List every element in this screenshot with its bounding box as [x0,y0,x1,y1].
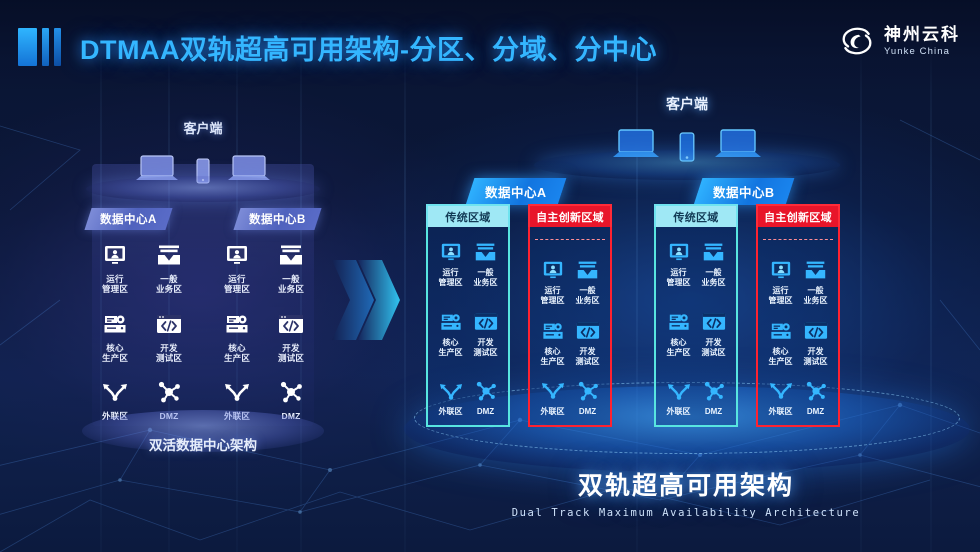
zone-row: 核心生产区 开发测试区 [535,318,605,367]
zone-item: 运行管理区 [433,239,468,288]
dmz-nodes-icon [805,378,827,404]
zone-line2: 业务区 [702,278,726,287]
network-branch-icon [224,377,250,407]
zone-line1: 开发 [282,343,299,353]
zone-line2: 生产区 [667,348,691,357]
left-datacenter-a-zones: 运行管理区 一般业务区 核心生产区 [88,240,196,422]
right-client-platform [534,150,840,180]
monitor-user-icon [770,257,792,283]
zone-item: DMZ [696,378,731,417]
zone-line1: 核心 [106,343,123,353]
panel-body: 运行管理区 一般业务区 核心生产区 [654,227,738,427]
zone-item: 运行管理区 [661,239,696,288]
zone-line2: 测试区 [804,357,828,366]
zone-line1: 运行 [671,268,687,277]
zone-line1: 开发 [580,347,596,356]
left-datacenter-a-chip: 数据中心A [84,208,172,230]
logo-name-en: Yunke China [884,47,960,57]
left-datacenter-b-zones: 运行管理区 一般业务区 核心生产区 [210,240,318,422]
zone-line1: 一般 [808,286,824,295]
zone-item: 开发测试区 [798,318,833,367]
inbox-tray-icon [702,239,725,265]
zone-line2: 生产区 [439,348,463,357]
panel-header: 传统区域 [654,204,738,227]
panel-body: 运行管理区 一般业务区 核心生产区 [756,227,840,427]
server-core-icon [542,318,564,344]
monitor-user-icon [542,257,564,283]
zone-row: 外联区 DMZ [661,378,731,417]
zone-item: 开发测试区 [570,318,605,367]
zone-line1: 一般 [160,274,177,284]
zone-line1: 外联区 [439,407,463,416]
left-datacenter-labels: 数据中心A 数据中心B [88,208,318,230]
right-title-block: 双轨超高可用架构 Dual Track Maximum Availability… [392,466,980,519]
zone-line1: 核心 [773,347,789,356]
zone-line2: 业务区 [804,296,828,305]
left-datacenter-b-label: 数据中心B [249,211,306,227]
code-window-icon [156,309,182,339]
zone-item: DMZ [798,378,833,417]
architecture-title-cn: 双轨超高可用架构 [392,466,980,502]
zone-line2: 业务区 [278,284,304,294]
zone-item: 开发测试区 [696,309,731,358]
panel-header: 自主创新区域 [756,204,840,227]
panel-traditional-dc-b[interactable]: 传统区域 运行管理区 一般业务区 [654,204,738,427]
zone-line1: 核心 [443,338,459,347]
zone-item: DMZ [468,378,503,417]
zone-line2: 业务区 [156,284,182,294]
panel-header: 传统区域 [426,204,510,227]
code-window-icon [474,309,498,335]
panel-divider [535,239,605,240]
zone-line1: 运行 [228,274,245,284]
zone-line2: 管理区 [439,278,463,287]
slide-header: DTMAA双轨超高可用架构-分区、分域、分中心 神州云科 Yunke China [0,0,980,88]
server-core-icon [668,309,690,335]
zone-line1: DMZ [477,407,494,416]
zone-item: 核心生产区 [433,309,468,358]
dmz-nodes-icon [703,378,725,404]
zone-item: 一般业务区 [696,239,731,288]
logo-name-cn: 神州云科 [884,26,960,43]
zone-item: 一般业务区 [570,257,605,306]
zone-line1: 外联区 [769,407,793,416]
left-caption: 双活数据中心架构 [78,434,328,454]
zone-line2: 生产区 [769,357,793,366]
zone-line2: 生产区 [541,357,565,366]
server-core-icon [225,309,249,339]
zone-line2: 管理区 [541,296,565,305]
network-branch-icon [769,378,793,404]
zone-line1: 核心 [228,343,245,353]
right-zone-panels: 传统区域 运行管理区 一般业务区 [392,204,980,434]
panel-body: 运行管理区 一般业务区 核心生产区 [528,227,612,427]
zone-item: 外联区 [763,378,798,417]
zone-item: 开发测试区 [143,309,195,364]
zone-line1: 运行 [443,268,459,277]
zone-line2: 测试区 [278,353,304,363]
zone-item: 开发测试区 [468,309,503,358]
monitor-user-icon [225,240,249,270]
zone-line1: DMZ [705,407,722,416]
code-window-icon [702,309,726,335]
zone-line1: 一般 [282,274,299,284]
panel-innovation-dc-b[interactable]: 自主创新区域 运行管理区 一般业务区 [756,204,840,427]
zone-item: DMZ [570,378,605,417]
dmz-nodes-icon [279,377,303,407]
dmz-nodes-icon [157,377,181,407]
monitor-user-icon [103,240,127,270]
right-datacenter-a-chip: 数据中心A [466,178,566,205]
zone-line2: 测试区 [702,348,726,357]
zone-item: 外联区 [661,378,696,417]
zone-row: 运行管理区 一般业务区 [661,239,731,288]
zone-item: 核心生产区 [89,309,141,364]
zone-row: 核心生产区 开发测试区 [763,318,833,367]
zone-item: 一般业务区 [143,240,195,295]
zone-row: 核心生产区 开发测试区 [433,309,503,358]
brand-logo: 神州云科 Yunke China [839,24,960,58]
zone-item: 外联区 [433,378,468,417]
zone-line2: 测试区 [576,357,600,366]
zone-item: 外联区 [535,378,570,417]
zone-item: 一般业务区 [265,240,317,295]
zone-line2: 管理区 [224,284,250,294]
zone-line1: 开发 [160,343,177,353]
network-branch-icon [541,378,565,404]
zone-item: 运行管理区 [535,257,570,306]
zone-line1: 核心 [545,347,561,356]
three-bars-icon [18,28,61,66]
zone-row: 运行管理区 一般业务区 [433,239,503,288]
inbox-tray-icon [278,240,304,270]
zone-line2: 管理区 [667,278,691,287]
zone-item: 开发测试区 [265,309,317,364]
zone-line2: 测试区 [156,353,182,363]
zone-line1: 运行 [106,274,123,284]
zone-line2: 业务区 [576,296,600,305]
zone-item: 运行管理区 [763,257,798,306]
zone-line2: 业务区 [474,278,498,287]
panel-innovation-dc-a[interactable]: 自主创新区域 运行管理区 一般业务区 [528,204,612,427]
monitor-user-icon [668,239,690,265]
zone-line1: 一般 [478,268,494,277]
inbox-tray-icon [804,257,827,283]
page-title: DTMAA双轨超高可用架构-分区、分域、分中心 [80,28,657,67]
monitor-user-icon [440,239,462,265]
inbox-tray-icon [474,239,497,265]
zone-line1: 运行 [773,286,789,295]
network-branch-icon [439,378,463,404]
zone-row: 外联区 DMZ [433,378,503,417]
left-datacenter-a-label: 数据中心A [100,211,157,227]
right-architecture-scene: 客户端 数据中心A 数据中心B [392,86,980,506]
zone-item: 一般业务区 [798,257,833,306]
left-datacenter-b-chip: 数据中心B [234,208,322,230]
zone-row: 运行管理区 一般业务区 [763,257,833,306]
zone-line1: 运行 [545,286,561,295]
zone-item: 运行管理区 [211,240,263,295]
panel-divider [763,239,833,240]
zone-row: 核心生产区 开发测试区 [661,309,731,358]
zone-row: 外联区 DMZ [763,378,833,417]
inbox-tray-icon [156,240,182,270]
zone-line1: 核心 [671,338,687,347]
zone-line1: 开发 [478,338,494,347]
zone-item: 核心生产区 [211,309,263,364]
zone-line1: 一般 [706,268,722,277]
zone-line1: 开发 [808,347,824,356]
panel-header: 自主创新区域 [528,204,612,227]
zone-line1: DMZ [579,407,596,416]
zone-item: 一般业务区 [468,239,503,288]
zone-line2: 测试区 [474,348,498,357]
architecture-title-en: Dual Track Maximum Availability Architec… [392,507,980,519]
zone-line1: 外联区 [667,407,691,416]
server-core-icon [770,318,792,344]
inbox-tray-icon [576,257,599,283]
zone-line1: DMZ [807,407,824,416]
right-datacenter-b-chip: 数据中心B [694,178,794,205]
galaxy-swirl-logo-icon [839,24,875,58]
network-branch-icon [667,378,691,404]
zone-item: 运行管理区 [89,240,141,295]
zone-line2: 管理区 [769,296,793,305]
zone-row: 运行管理区 一般业务区 [535,257,605,306]
code-window-icon [576,318,600,344]
zone-line2: 生产区 [102,353,128,363]
zone-item: 核心生产区 [661,309,696,358]
zone-item: 核心生产区 [763,318,798,367]
dmz-nodes-icon [577,378,599,404]
dmz-nodes-icon [475,378,497,404]
right-datacenter-a-label: 数据中心A [485,182,547,201]
network-branch-icon [102,377,128,407]
zone-line2: 生产区 [224,353,250,363]
zone-line1: 一般 [580,286,596,295]
code-window-icon [804,318,828,344]
right-client-label: 客户端 [562,94,812,114]
zone-row: 外联区 DMZ [535,378,605,417]
server-core-icon [103,309,127,339]
code-window-icon [278,309,304,339]
zone-item: 核心生产区 [535,318,570,367]
slide-canvas: DTMAA双轨超高可用架构-分区、分域、分中心 神州云科 Yunke China… [0,0,980,552]
left-client-label: 客户端 [78,118,328,137]
left-client-platform [86,176,320,202]
left-zone-columns: 运行管理区 一般业务区 核心生产区 [88,240,318,422]
server-core-icon [440,309,462,335]
left-architecture-scene: 客户端 数据中心A 数据中心B [78,118,328,448]
zone-line2: 管理区 [102,284,128,294]
panel-body: 运行管理区 一般业务区 核心生产区 [426,227,510,427]
zone-line1: 外联区 [541,407,565,416]
zone-line1: 开发 [706,338,722,347]
panel-traditional-dc-a[interactable]: 传统区域 运行管理区 一般业务区 [426,204,510,427]
right-datacenter-b-label: 数据中心B [713,182,775,201]
